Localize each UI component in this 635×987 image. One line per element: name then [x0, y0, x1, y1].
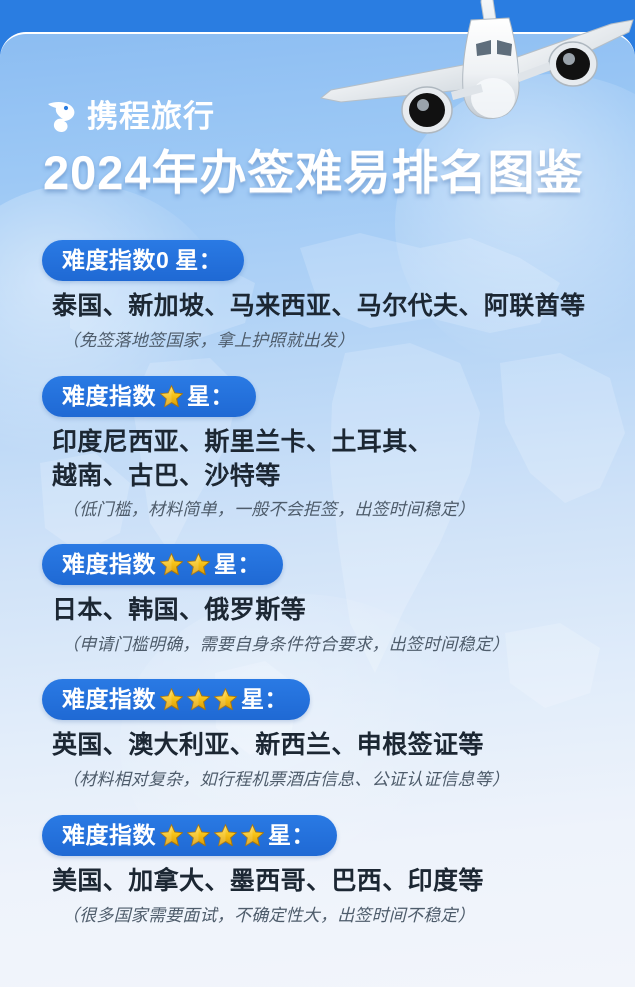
page-title: 2024年办签难易排名图鉴 [43, 144, 584, 203]
badge-suffix-label: 星： [187, 385, 234, 408]
difficulty-badge: 难度指数 星： [42, 544, 283, 585]
country-line: 美国、加拿大、墨西哥、巴西、印度等 [52, 865, 635, 899]
section-note: （材料相对复杂，如行程机票酒店信息、公证认证信息等） [62, 765, 635, 790]
ranking-section: 难度指数 星： 日本、韩国、俄罗斯等 （申请门槛明确，需要自身条件符合要求，出签… [0, 544, 635, 655]
star-icon [213, 687, 238, 712]
country-list: 美国、加拿大、墨西哥、巴西、印度等 [52, 865, 635, 899]
star-icon [240, 823, 265, 848]
badge-suffix-label: 星： [268, 824, 315, 847]
star-icon [213, 823, 238, 848]
star-icon [159, 552, 184, 577]
ranking-section: 难度指数 星： 英国、澳大利亚、新西兰、申根签证等 （材料相对复杂，如行程机票酒… [0, 679, 635, 790]
poster-root: 携程旅行 2024年办签难易排名图鉴 难度指数 0 星： 泰国、新加坡、马来西亚… [0, 0, 635, 987]
difficulty-badge: 难度指数 星： [42, 679, 310, 720]
ranking-section: 难度指数 星： 印度尼西亚、斯里兰卡、土耳其、 越南、古巴、沙特等 （低门槛，材… [0, 376, 635, 521]
badge-prefix-label: 难度指数 [62, 688, 156, 711]
country-line: 印度尼西亚、斯里兰卡、土耳其、 [52, 426, 635, 460]
section-note: （申请门槛明确，需要自身条件符合要求，出签时间稳定） [62, 630, 635, 655]
ctrip-dolphin-icon [44, 98, 78, 134]
country-line: 越南、古巴、沙特等 [52, 460, 635, 494]
star-rating [159, 823, 265, 848]
star-rating [159, 687, 238, 712]
section-note: （低门槛，材料简单，一般不会拒签，出签时间稳定） [62, 495, 635, 520]
badge-suffix-label: 星： [241, 688, 288, 711]
badge-suffix-label: 星： [175, 249, 222, 272]
ranking-section: 难度指数 星： 美国、加拿大、墨西哥、巴西、印度等 （很多国家需要面试，不确定性… [0, 815, 635, 926]
country-line: 英国、澳大利亚、新西兰、申根签证等 [52, 729, 635, 763]
star-rating [159, 552, 211, 577]
brand-name: 携程旅行 [87, 101, 215, 132]
difficulty-badge: 难度指数 0 星： [42, 240, 244, 281]
badge-prefix-label: 难度指数 [62, 249, 156, 272]
difficulty-badge: 难度指数 星： [42, 376, 256, 417]
badge-zero-label: 0 [156, 249, 169, 272]
section-note: （很多国家需要面试，不确定性大，出签时间不稳定） [62, 901, 635, 926]
brand-logo: 携程旅行 [44, 95, 215, 137]
country-list: 泰国、新加坡、马来西亚、马尔代夫、阿联酋等 [52, 290, 635, 324]
country-line: 泰国、新加坡、马来西亚、马尔代夫、阿联酋等 [52, 290, 635, 324]
country-list: 英国、澳大利亚、新西兰、申根签证等 [52, 729, 635, 763]
ranking-section: 难度指数 0 星： 泰国、新加坡、马来西亚、马尔代夫、阿联酋等 （免签落地签国家… [0, 240, 635, 351]
star-icon [159, 687, 184, 712]
star-rating [159, 384, 184, 409]
badge-prefix-label: 难度指数 [62, 385, 156, 408]
star-icon [186, 687, 211, 712]
country-list: 印度尼西亚、斯里兰卡、土耳其、 越南、古巴、沙特等 [52, 426, 635, 494]
star-icon [159, 823, 184, 848]
star-icon [159, 384, 184, 409]
ranking-sections: 难度指数 0 星： 泰国、新加坡、马来西亚、马尔代夫、阿联酋等 （免签落地签国家… [0, 240, 635, 926]
difficulty-badge: 难度指数 星： [42, 815, 337, 856]
badge-prefix-label: 难度指数 [62, 824, 156, 847]
star-icon [186, 823, 211, 848]
country-line: 日本、韩国、俄罗斯等 [52, 594, 635, 628]
badge-prefix-label: 难度指数 [62, 553, 156, 576]
country-list: 日本、韩国、俄罗斯等 [52, 594, 635, 628]
section-note: （免签落地签国家，拿上护照就出发） [62, 326, 635, 351]
badge-suffix-label: 星： [214, 553, 261, 576]
star-icon [186, 552, 211, 577]
